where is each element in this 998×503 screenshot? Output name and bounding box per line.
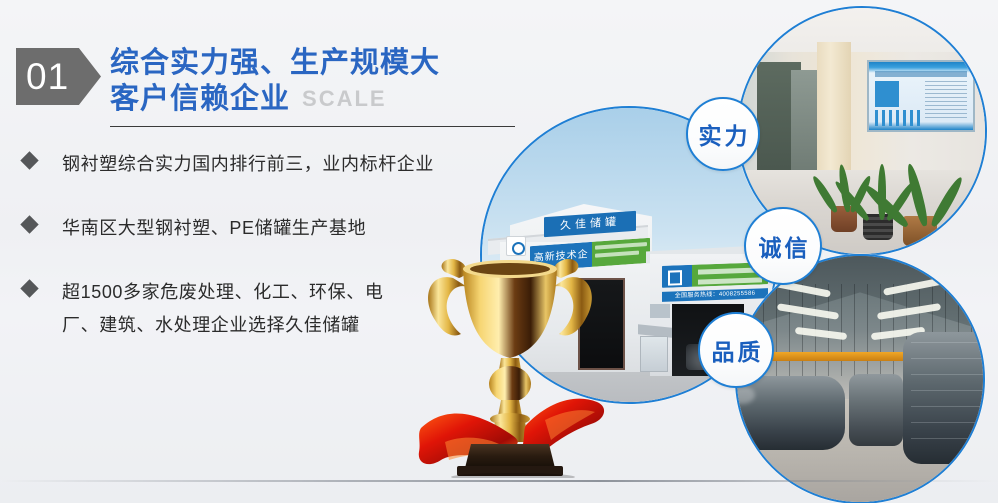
info-board-badge bbox=[875, 81, 899, 107]
storage-tank bbox=[903, 332, 985, 464]
badge-strength[interactable]: 实力 bbox=[686, 97, 760, 171]
photo-warehouse-interior[interactable] bbox=[735, 254, 985, 503]
storage-tank bbox=[849, 374, 903, 446]
trophy-illustration bbox=[405, 228, 615, 478]
factory-window-right bbox=[650, 304, 670, 318]
office-info-board bbox=[867, 60, 975, 132]
list-item: 超1500多家危废处理、化工、环保、电 厂、建筑、水处理企业选择久佳储罐 bbox=[0, 276, 470, 342]
list-item-label: 钢衬塑综合实力国内排行前三，业内标杆企业 bbox=[62, 148, 434, 181]
list-item-label: 超1500多家危废处理、化工、环保、电 bbox=[62, 276, 383, 309]
list-item-label-second-line: 厂、建筑、水处理企业选择久佳储罐 bbox=[62, 309, 383, 342]
title-divider bbox=[110, 126, 515, 127]
list-item-label-multiline: 超1500多家危废处理、化工、环保、电 厂、建筑、水处理企业选择久佳储罐 bbox=[62, 276, 383, 342]
office-doorway-inner bbox=[791, 70, 817, 178]
list-item: 华南区大型钢衬塑、PE储罐生产基地 bbox=[0, 212, 470, 245]
section-index-badge: 01 bbox=[16, 48, 101, 105]
list-item: 钢衬塑综合实力国内排行前三，业内标杆企业 bbox=[0, 148, 470, 181]
feature-bullet-list: 钢衬塑综合实力国内排行前三，业内标杆企业 华南区大型钢衬塑、PE储罐生产基地 超… bbox=[0, 148, 470, 342]
glass-entry-booth bbox=[640, 336, 668, 372]
office-marble-pillar bbox=[817, 42, 851, 182]
storage-tank bbox=[735, 376, 845, 450]
headline-block: 01 综合实力强、生产规模大 客户信赖企业SCALE bbox=[0, 22, 530, 122]
diamond-bullet-icon bbox=[20, 151, 38, 169]
badge-quality[interactable]: 品质 bbox=[698, 312, 774, 388]
page-title-line2: 客户信赖企业 bbox=[110, 83, 290, 115]
badge-integrity[interactable]: 诚信 bbox=[744, 207, 822, 285]
floor-highlight-line bbox=[0, 480, 998, 482]
info-board-text-block bbox=[925, 81, 967, 118]
factory-sign-right-logo-icon bbox=[662, 265, 692, 288]
page-title-english: SCALE bbox=[302, 86, 387, 111]
potted-plant bbox=[863, 214, 893, 240]
info-board-title-bar bbox=[875, 71, 967, 77]
potted-plant bbox=[831, 206, 857, 232]
list-item-label: 华南区大型钢衬塑、PE储罐生产基地 bbox=[62, 212, 366, 245]
diamond-bullet-icon bbox=[20, 215, 38, 233]
info-board-chart bbox=[875, 110, 921, 126]
section-index-number: 01 bbox=[16, 58, 69, 95]
potted-plant bbox=[903, 216, 937, 246]
diamond-bullet-icon bbox=[20, 279, 38, 297]
